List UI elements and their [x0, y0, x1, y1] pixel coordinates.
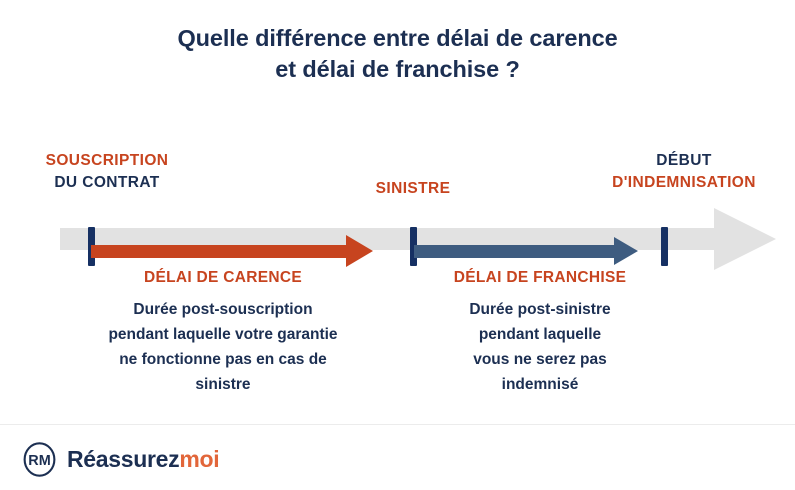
- page-title-line-2: et délai de franchise ?: [0, 54, 795, 85]
- milestone-label-souscription: SOUSCRIPTION DU CONTRAT: [12, 150, 202, 194]
- section-carence-body-line-1: Durée post-souscription: [75, 297, 371, 322]
- milestone-souscription-line-1: SOUSCRIPTION: [12, 150, 202, 172]
- section-carence-body-line-4: sinistre: [75, 372, 371, 397]
- milestone-debut-line-1: DÉBUT: [573, 150, 795, 172]
- page-title-line-1: Quelle différence entre délai de carence: [0, 23, 795, 54]
- section-franchise-body-line-3: vous ne serez pas: [412, 347, 668, 372]
- milestone-sinistre-line-1: SINISTRE: [318, 178, 508, 200]
- footer-divider: [0, 424, 795, 425]
- infographic-canvas: Quelle différence entre délai de carence…: [0, 0, 795, 490]
- milestone-label-sinistre: SINISTRE: [318, 178, 508, 200]
- section-delai-de-carence: DÉLAI DE CARENCE Durée post-souscription…: [75, 268, 371, 397]
- rm-monogram-icon: RM: [22, 442, 57, 477]
- milestone-label-debut-indemnisation: DÉBUT D'INDEMNISATION: [573, 150, 795, 194]
- milestone-debut-line-2: D'INDEMNISATION: [573, 172, 795, 194]
- milestone-souscription-line-2: DU CONTRAT: [12, 172, 202, 194]
- rm-monogram-text: RM: [28, 453, 50, 469]
- section-carence-body: Durée post-souscription pendant laquelle…: [75, 297, 371, 397]
- franchise-arrow-shaft: [414, 245, 614, 258]
- brand-wordmark-main: Réassurez: [67, 446, 179, 472]
- section-carence-body-line-3: ne fonctionne pas en cas de: [75, 347, 371, 372]
- carence-arrow-head-icon: [346, 235, 373, 267]
- carence-arrow-shaft: [91, 245, 346, 258]
- section-delai-de-franchise: DÉLAI DE FRANCHISE Durée post-sinistre p…: [412, 268, 668, 397]
- section-carence-body-line-2: pendant laquelle votre garantie: [75, 322, 371, 347]
- timeline-track-arrow-icon: [714, 208, 776, 270]
- timeline-tick-debut-indemnisation: [661, 227, 668, 266]
- section-franchise-title: DÉLAI DE FRANCHISE: [412, 268, 668, 288]
- section-franchise-body-line-2: pendant laquelle: [412, 322, 668, 347]
- brand-logo[interactable]: RM Réassurezmoi: [22, 442, 219, 477]
- section-carence-title: DÉLAI DE CARENCE: [75, 268, 371, 288]
- brand-wordmark: Réassurezmoi: [67, 448, 219, 471]
- page-title: Quelle différence entre délai de carence…: [0, 23, 795, 85]
- section-franchise-body: Durée post-sinistre pendant laquelle vou…: [412, 297, 668, 397]
- franchise-arrow-head-icon: [614, 237, 638, 265]
- section-franchise-body-line-4: indemnisé: [412, 372, 668, 397]
- brand-wordmark-accent: moi: [179, 446, 219, 472]
- section-franchise-body-line-1: Durée post-sinistre: [412, 297, 668, 322]
